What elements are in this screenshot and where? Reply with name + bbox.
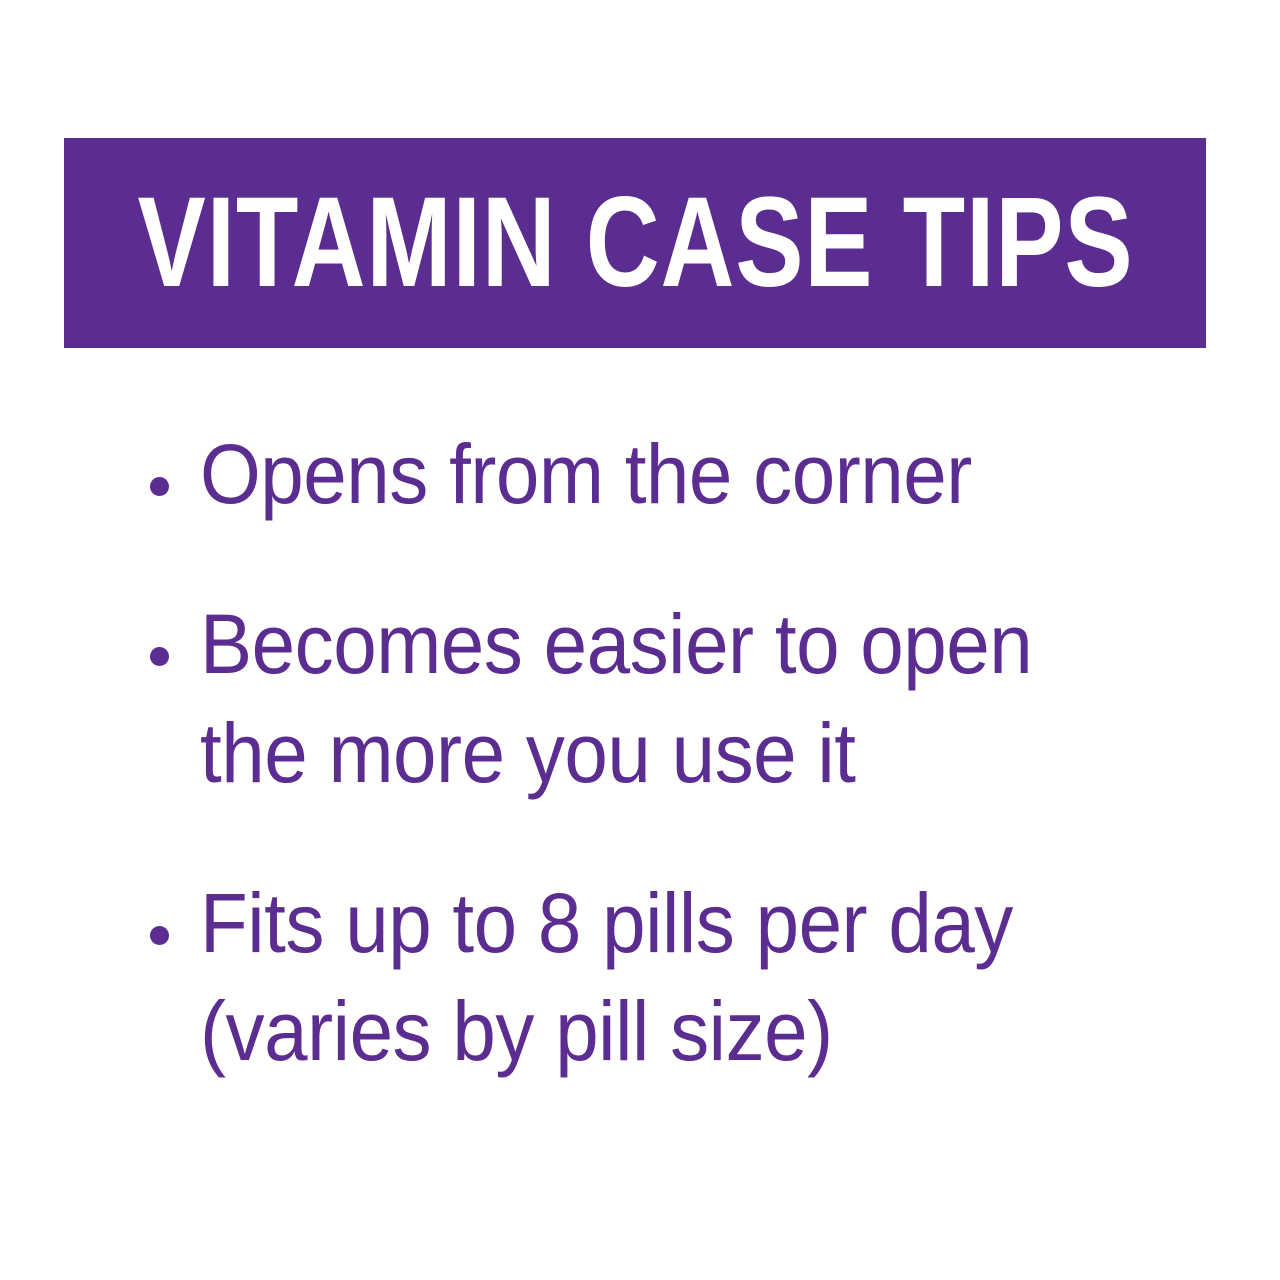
list-item: Becomes easier to open the more you use … [140,590,1200,807]
bullet-dot-icon [150,477,169,496]
tip-text: Opens from the corner [200,420,1130,528]
tips-list: Opens from the corner Becomes easier to … [140,420,1200,1086]
vitamin-case-tips-poster: VITAMIN CASE TIPS Opens from the corner … [0,0,1280,1280]
header-banner: VITAMIN CASE TIPS [64,138,1206,348]
tip-text: Fits up to 8 pills per day (varies by pi… [200,869,1130,1086]
bullet-dot-icon [150,926,169,945]
bullet-dot-icon [150,647,169,666]
list-item: Opens from the corner [140,420,1200,528]
list-item: Fits up to 8 pills per day (varies by pi… [140,869,1200,1086]
tip-text: Becomes easier to open the more you use … [200,590,1130,807]
page-title: VITAMIN CASE TIPS [137,179,1133,307]
